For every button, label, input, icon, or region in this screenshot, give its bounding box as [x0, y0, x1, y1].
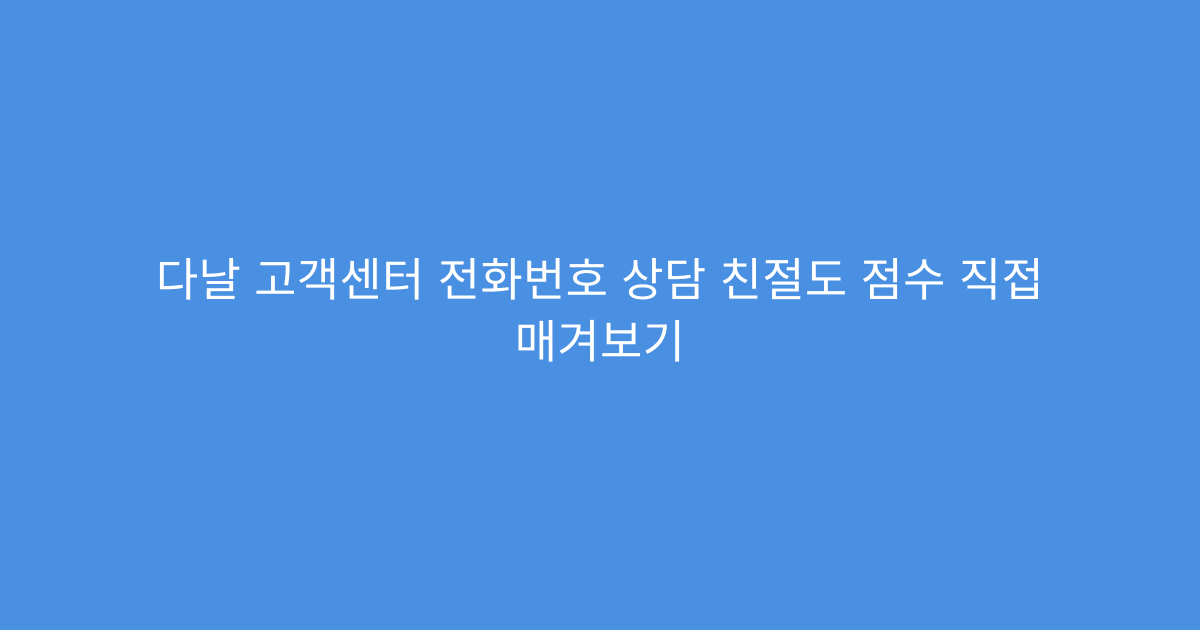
page-title: 다날 고객센터 전화번호 상담 친절도 점수 직접 매겨보기 — [95, 249, 1105, 373]
headline-block: 다날 고객센터 전화번호 상담 친절도 점수 직접 매겨보기 — [95, 249, 1105, 373]
thumbnail-card: 다날 고객센터 전화번호 상담 친절도 점수 직접 매겨보기 — [0, 0, 1200, 630]
